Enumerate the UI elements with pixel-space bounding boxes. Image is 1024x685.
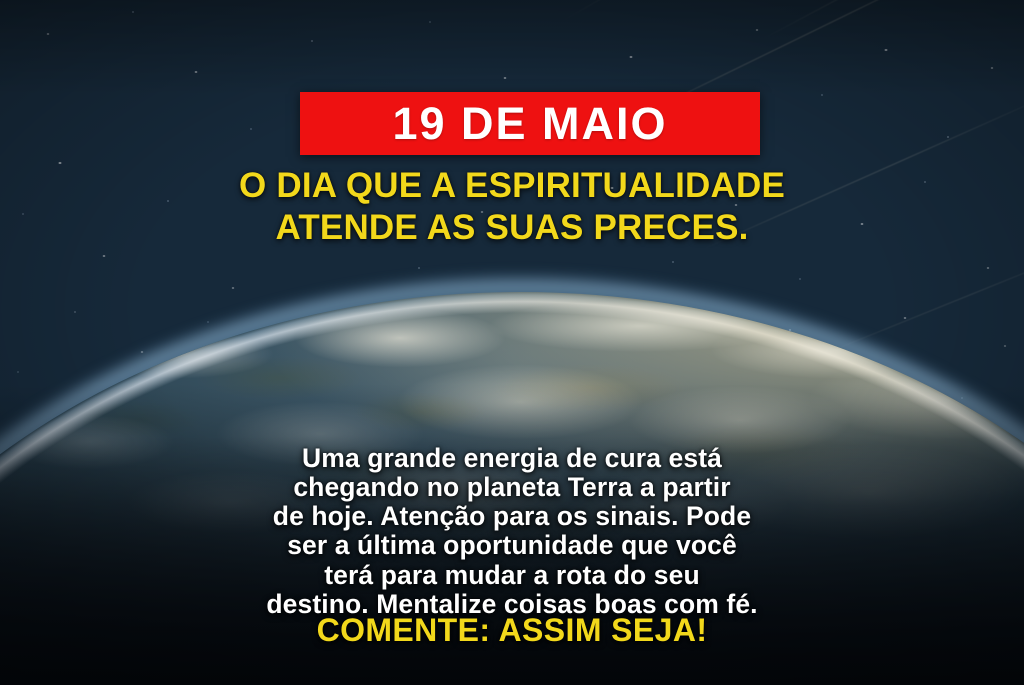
call-to-action-label: COMENTE: ASSIM SEJA! (317, 612, 708, 648)
body-copy-line-5: terá para mudar a rota do seu (48, 561, 976, 590)
headline-line-1: O DIA QUE A ESPIRITUALIDADE (40, 165, 984, 207)
body-copy-line-3: de hoje. Atenção para os sinais. Pode (48, 502, 976, 531)
call-to-action: COMENTE: ASSIM SEJA! (0, 613, 1024, 648)
headline-line-2: ATENDE AS SUAS PRECES. (40, 207, 984, 249)
body-copy-line-4: ser a última oportunidade que você (48, 531, 976, 560)
body-copy-line-2: chegando no planeta Terra a partir (48, 473, 976, 502)
poster-canvas: 19 DE MAIO O DIA QUE A ESPIRITUALIDADE A… (0, 0, 1024, 685)
poster-content: 19 DE MAIO O DIA QUE A ESPIRITUALIDADE A… (0, 0, 1024, 685)
date-badge: 19 DE MAIO (300, 92, 760, 155)
date-badge-label: 19 DE MAIO (392, 101, 667, 146)
headline: O DIA QUE A ESPIRITUALIDADE ATENDE AS SU… (0, 165, 1024, 249)
body-copy-line-1: Uma grande energia de cura está (48, 444, 976, 473)
body-copy: Uma grande energia de cura está chegando… (0, 444, 1024, 619)
